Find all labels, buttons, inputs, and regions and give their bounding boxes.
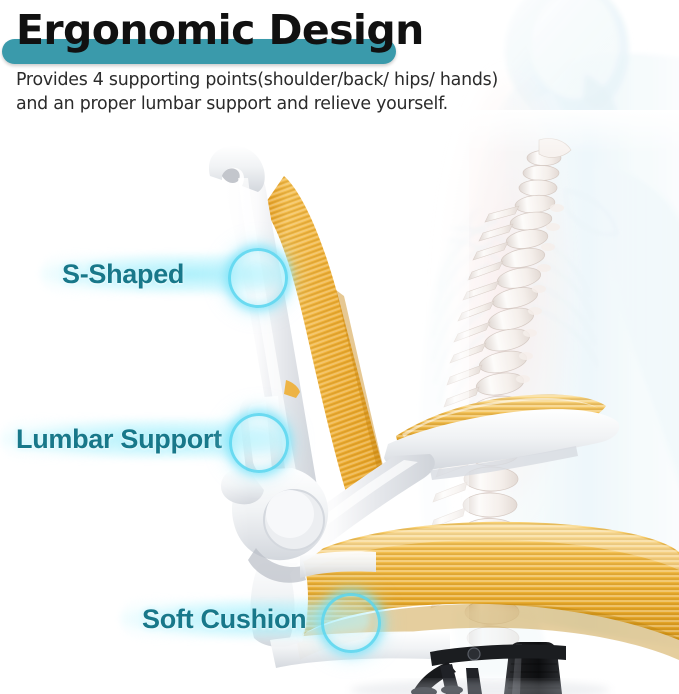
ground-shadow xyxy=(350,680,610,694)
marker-ring-soft-cushion xyxy=(321,593,381,653)
subtitle: Provides 4 supporting points(shoulder/ba… xyxy=(16,68,516,116)
subtitle-line-2: and an proper lumbar support and relieve… xyxy=(16,92,516,116)
marker-ring-s-shaped xyxy=(228,248,288,308)
callout-label-lumbar-support: Lumbar Support xyxy=(16,424,222,454)
subtitle-line-1: Provides 4 supporting points(shoulder/ba… xyxy=(16,68,516,92)
page-title: Ergonomic Design xyxy=(0,0,520,66)
callout-label-s-shaped: S-Shaped xyxy=(62,259,184,289)
header: Ergonomic Design Provides 4 supporting p… xyxy=(0,0,520,66)
marker-ring-lumbar-support xyxy=(229,413,289,473)
product-infographic: Ergonomic Design Provides 4 supporting p… xyxy=(0,0,679,694)
title-text: Ergonomic Design xyxy=(16,6,424,54)
callout-label-soft-cushion: Soft Cushion xyxy=(142,604,306,634)
